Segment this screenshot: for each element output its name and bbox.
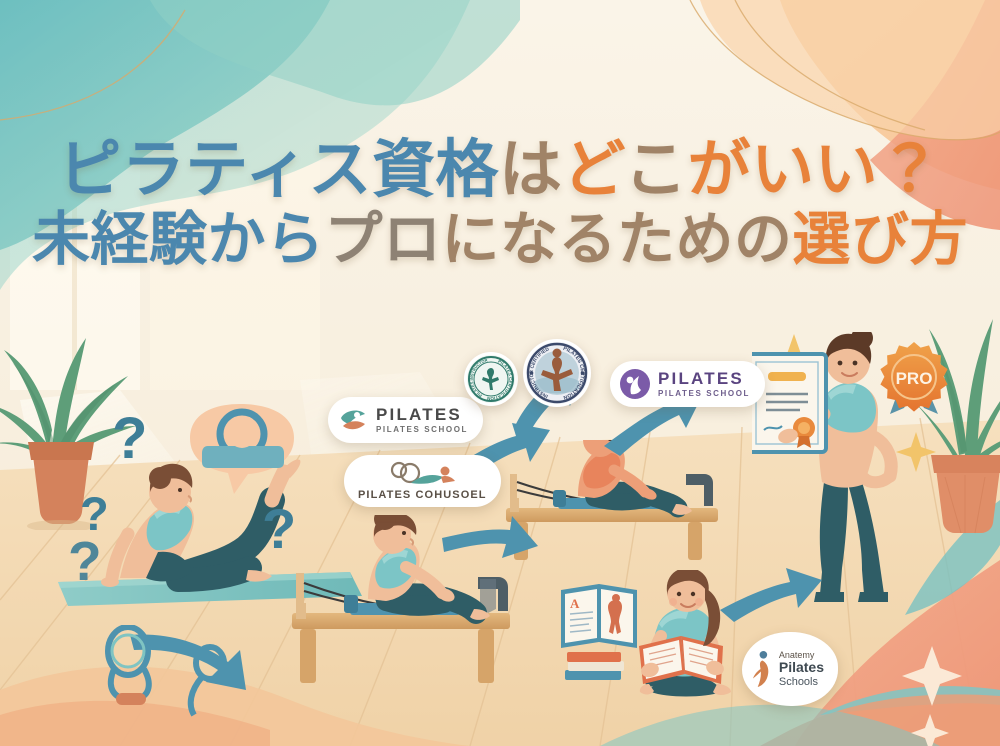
pilates-purple-icon xyxy=(619,368,651,400)
badge-purple-subtitle: PILATES SCHOOL xyxy=(658,390,750,398)
pro-rosette-label: PRO xyxy=(896,369,933,388)
badge-seal-navy[interactable]: PILATES CERTIFICATION INSTRUCTOR CERTIFI… xyxy=(523,339,591,407)
arrow-6 xyxy=(720,568,822,622)
pro-rosette-icon: PRO xyxy=(876,340,952,418)
badge-pilates-cohusoel[interactable]: PILATES COHUSOEL xyxy=(344,455,501,507)
banner-root: ? ? ? ? xyxy=(0,0,1000,746)
badge-seal-green[interactable]: PILATES CERTIFICATION PILATES INSTRUCTOR xyxy=(464,352,518,406)
badge-teal-subtitle: PILATES SCHOOL xyxy=(376,426,468,434)
badge-anatomy-pilates-schools[interactable]: Anatemy Pilates Schools xyxy=(742,632,838,706)
anatomy-figure-icon xyxy=(752,649,773,689)
badge-pilates-school-purple[interactable]: PILATES PILATES SCHOOL xyxy=(610,361,765,407)
badge-purple-title: PILATES xyxy=(658,370,750,387)
pilates-certification-green-icon: PILATES CERTIFICATION PILATES INSTRUCTOR xyxy=(466,354,516,404)
resistance-bands xyxy=(90,625,280,725)
pilates-certification-navy-icon: PILATES CERTIFICATION INSTRUCTOR CERTIFI… xyxy=(525,341,589,405)
pilates-cohusoel-icon xyxy=(385,461,459,487)
anatomy-line-3: Schools xyxy=(779,676,824,688)
badge-pro-rosette[interactable]: PRO xyxy=(876,340,952,418)
arrow-2 xyxy=(442,516,538,558)
pilates-teal-icon xyxy=(337,404,369,436)
badge-pilates-school-teal[interactable]: PILATES PILATES SCHOOL xyxy=(328,397,483,443)
badge-cohusoel-title: PILATES COHUSOEL xyxy=(358,489,487,501)
anatomy-line-2: Pilates xyxy=(779,660,824,676)
badge-teal-title: PILATES xyxy=(376,406,468,423)
